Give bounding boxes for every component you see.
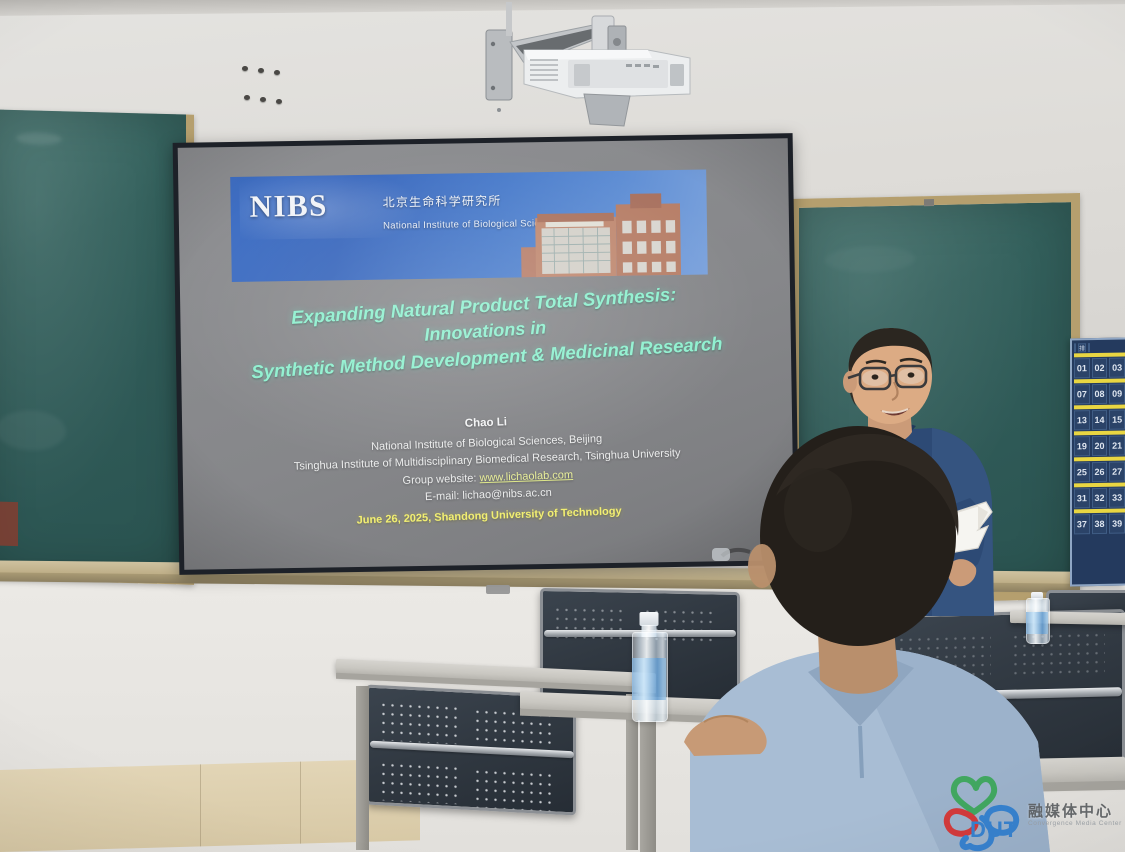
pocket-cell: 39 — [1109, 514, 1125, 534]
nibs-org-chinese: 北京生命科学研究所 — [383, 191, 502, 210]
pocket-chart-row: 13 14 15 — [1074, 410, 1125, 431]
website-url[interactable]: www.lichaolab.com — [480, 469, 574, 484]
number-pocket-chart: 排 01 02 03 07 08 09 13 14 15 19 20 21 25 — [1070, 338, 1125, 587]
pocket-cell: 27 — [1109, 462, 1125, 482]
pocket-cell: 03 — [1109, 358, 1125, 378]
sdut-watermark: DUT 融媒体中心 Convergence Media Center — [940, 772, 1125, 852]
pocket-cell: 38 — [1092, 514, 1108, 534]
nibs-building-image — [511, 188, 707, 282]
pocket-cell: 26 — [1092, 462, 1108, 482]
pocket-cell: 19 — [1074, 436, 1090, 456]
pocket-cell: 14 — [1092, 410, 1108, 430]
pocket-cell: 20 — [1092, 436, 1108, 456]
watermark-chinese-text: 融媒体中心 — [1028, 800, 1113, 821]
pocket-cell: 31 — [1074, 488, 1090, 508]
slide-title: Expanding Natural Product Total Synthesi… — [197, 275, 774, 388]
watermark-subtitle: Convergence Media Center — [1028, 820, 1122, 827]
pocket-header-cell: 排 — [1078, 343, 1086, 352]
pocket-chart-header: 排 — [1074, 343, 1125, 353]
email-address: lichao@nibs.ac.cn — [462, 487, 552, 502]
wall-hole — [260, 97, 266, 102]
pocket-chart-row: 01 02 03 — [1074, 358, 1125, 379]
pocket-cell: 21 — [1109, 436, 1125, 456]
tray-clip — [486, 585, 510, 594]
wall-hole — [258, 68, 264, 73]
pocket-cell: 01 — [1074, 358, 1090, 378]
chalkboard-left — [0, 109, 194, 584]
hand-on-desk — [676, 688, 786, 758]
wall-hole — [242, 66, 248, 71]
pocket-cell: 07 — [1074, 384, 1090, 404]
pocket-chart-row: 07 08 09 — [1074, 384, 1125, 405]
pocket-cell: 02 — [1092, 358, 1108, 378]
pocket-cell: 08 — [1092, 384, 1108, 404]
nibs-logo: NIBS — [249, 190, 328, 222]
pocket-chart-row: 31 32 33 — [1074, 488, 1125, 509]
wall-hole — [276, 99, 282, 104]
projector — [480, 2, 712, 128]
wall-hole — [274, 70, 280, 75]
nibs-banner: NIBS 北京生命科学研究所 National Institute of Bio… — [230, 169, 707, 282]
pocket-header-cell — [1088, 343, 1090, 352]
lecture-hall-photo: NIBS 北京生命科学研究所 National Institute of Bio… — [0, 0, 1125, 852]
sdut-acronym: DUT — [970, 817, 1018, 843]
pocket-chart-row: 19 20 21 — [1074, 436, 1125, 457]
pocket-cell: 15 — [1109, 410, 1125, 430]
pocket-header-cell — [1074, 343, 1076, 352]
pocket-cell: 33 — [1109, 488, 1125, 508]
wall-hole — [244, 95, 250, 100]
pocket-chart-row: 25 26 27 — [1074, 462, 1125, 483]
pocket-chart-row: 37 38 39 — [1074, 514, 1125, 535]
pocket-cell: 09 — [1109, 384, 1125, 404]
pocket-cell: 32 — [1092, 488, 1108, 508]
pocket-cell: 37 — [1074, 514, 1090, 534]
website-label: Group website: — [403, 472, 477, 487]
email-label: E-mail: — [425, 490, 460, 503]
pocket-cell: 13 — [1074, 410, 1090, 430]
water-bottle[interactable] — [632, 612, 666, 722]
pocket-cell: 25 — [1074, 462, 1090, 482]
